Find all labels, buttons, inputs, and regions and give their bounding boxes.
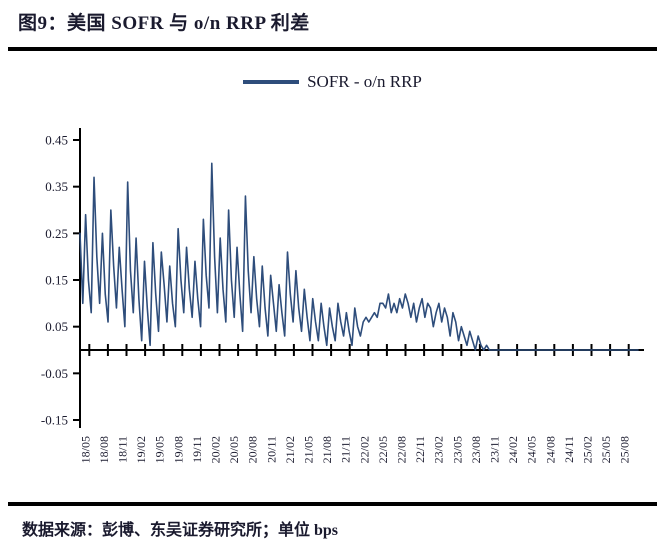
x-axis-tick-label: 24/11 <box>562 436 576 463</box>
figure-container: 图9：美国 SOFR 与 o/n RRP 利差 SOFR - o/n RRP 0… <box>0 0 665 548</box>
title-divider-top <box>8 47 657 51</box>
y-axis-tick-label: 0.45 <box>45 133 68 148</box>
line-chart: 0.450.350.250.150.05-0.05-0.1518/0518/08… <box>0 100 665 495</box>
x-axis-tick-label: 19/02 <box>134 436 148 463</box>
x-axis-tick-label: 22/02 <box>357 436 371 463</box>
y-axis-tick-label: -0.05 <box>41 366 68 381</box>
series-line-sofr-rrp <box>80 163 638 350</box>
x-axis-tick-label: 20/11 <box>264 436 278 463</box>
source-divider-bottom <box>8 502 657 506</box>
legend-label-sofr-rrp: SOFR - o/n RRP <box>307 72 422 92</box>
chart-legend: SOFR - o/n RRP <box>0 72 665 92</box>
y-axis-tick-label: -0.15 <box>41 413 68 428</box>
x-axis-tick-label: 24/08 <box>543 436 557 463</box>
x-axis-tick-label: 24/05 <box>525 436 539 463</box>
x-axis-tick-label: 23/02 <box>432 436 446 463</box>
x-axis-tick-label: 18/08 <box>97 436 111 463</box>
x-axis-tick-label: 19/05 <box>153 436 167 463</box>
x-axis-tick-label: 18/05 <box>78 436 92 463</box>
x-axis-tick-label: 25/08 <box>618 436 632 463</box>
source-note: 数据来源：彭博、东吴证券研究所；单位 bps <box>22 516 338 540</box>
y-axis-tick-label: 0.25 <box>45 226 68 241</box>
x-axis-tick-label: 22/11 <box>413 436 427 463</box>
x-axis-tick-label: 23/11 <box>488 436 502 463</box>
x-axis-tick-label: 20/02 <box>209 436 223 463</box>
x-axis-tick-label: 22/08 <box>395 436 409 463</box>
y-axis-tick-label: 0.15 <box>45 273 68 288</box>
x-axis-tick-label: 24/02 <box>506 436 520 463</box>
legend-line-swatch <box>243 80 299 84</box>
chart-plot-area: 0.450.350.250.150.05-0.05-0.1518/0518/08… <box>0 100 665 495</box>
x-axis-tick-label: 21/11 <box>339 436 353 463</box>
x-axis-tick-label: 25/02 <box>581 436 595 463</box>
x-axis-tick-label: 21/02 <box>283 436 297 463</box>
x-axis-tick-label: 23/05 <box>450 436 464 463</box>
x-axis-tick-label: 20/05 <box>227 436 241 463</box>
x-axis-tick-label: 18/11 <box>116 436 130 463</box>
x-axis-tick-label: 23/08 <box>469 436 483 463</box>
x-axis-tick-label: 21/05 <box>302 436 316 463</box>
x-axis-tick-label: 20/08 <box>246 436 260 463</box>
x-axis-tick-label: 19/11 <box>190 436 204 463</box>
x-axis-tick-label: 25/05 <box>599 436 613 463</box>
y-axis-tick-label: 0.05 <box>45 319 68 334</box>
x-axis-tick-label: 19/08 <box>171 436 185 463</box>
page-title: 图9：美国 SOFR 与 o/n RRP 利差 <box>18 8 310 35</box>
x-axis-tick-label: 22/05 <box>376 436 390 463</box>
y-axis-tick-label: 0.35 <box>45 179 68 194</box>
x-axis-tick-label: 21/08 <box>320 436 334 463</box>
